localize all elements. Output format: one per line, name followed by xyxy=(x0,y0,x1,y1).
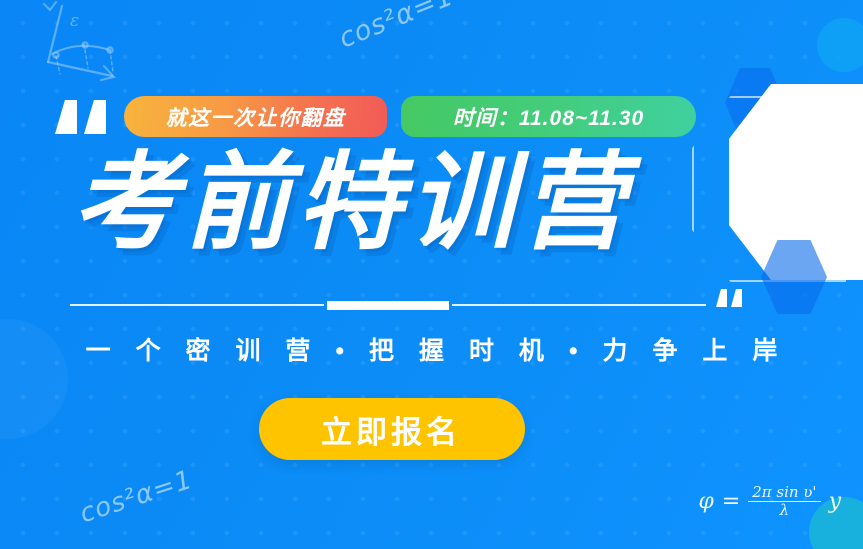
divider-center-bar xyxy=(327,301,449,310)
close-quote-icon xyxy=(716,289,742,307)
close-quote-mark-left xyxy=(716,289,727,307)
formula-phi-equals: = xyxy=(722,489,740,514)
sketch-formula-bottom-left: cos²α=1 xyxy=(76,465,196,530)
promo-banner: cos²α=1 cos²α=1 ε φ = 2π sin ʋ' λ y xyxy=(0,0,863,549)
badge-date: 时间：11.08~11.30 xyxy=(401,96,696,137)
open-quote-mark-left xyxy=(55,100,77,134)
sketch-axes-diagram: ε xyxy=(0,0,120,90)
formula-phi-fraction: 2π sin ʋ' λ xyxy=(748,484,820,519)
badge-row: 就这一次让你翻盘 时间：11.08~11.30 xyxy=(124,96,696,137)
formula-phi-denominator: λ xyxy=(748,501,820,519)
open-quote-icon xyxy=(55,100,106,134)
formula-phi-symbol: φ xyxy=(698,489,713,514)
signup-button[interactable]: 立即报名 xyxy=(259,398,525,460)
badge-slogan: 就这一次让你翻盘 xyxy=(124,96,387,137)
close-quote-mark-right xyxy=(731,289,742,307)
subtitle: 一 个 密 训 营 • 把 握 时 机 • 力 争 上 岸 xyxy=(0,331,863,367)
title-divider xyxy=(70,300,706,310)
divider-rule-left xyxy=(70,304,324,306)
sketch-formula-phi: φ = 2π sin ʋ' λ y xyxy=(698,484,841,519)
divider-rule-right xyxy=(452,304,706,306)
page-title: 考前特训营 xyxy=(72,142,632,265)
decorative-circle-top-right xyxy=(817,18,863,72)
hexagon-outline-icon xyxy=(692,96,846,282)
formula-phi-tail: y xyxy=(829,489,841,514)
sketch-formula-top: cos²α=1 xyxy=(335,0,459,55)
sketch-axis-label: ε xyxy=(70,11,79,31)
open-quote-mark-right xyxy=(84,100,106,134)
formula-phi-numerator: 2π sin ʋ' xyxy=(748,484,820,501)
